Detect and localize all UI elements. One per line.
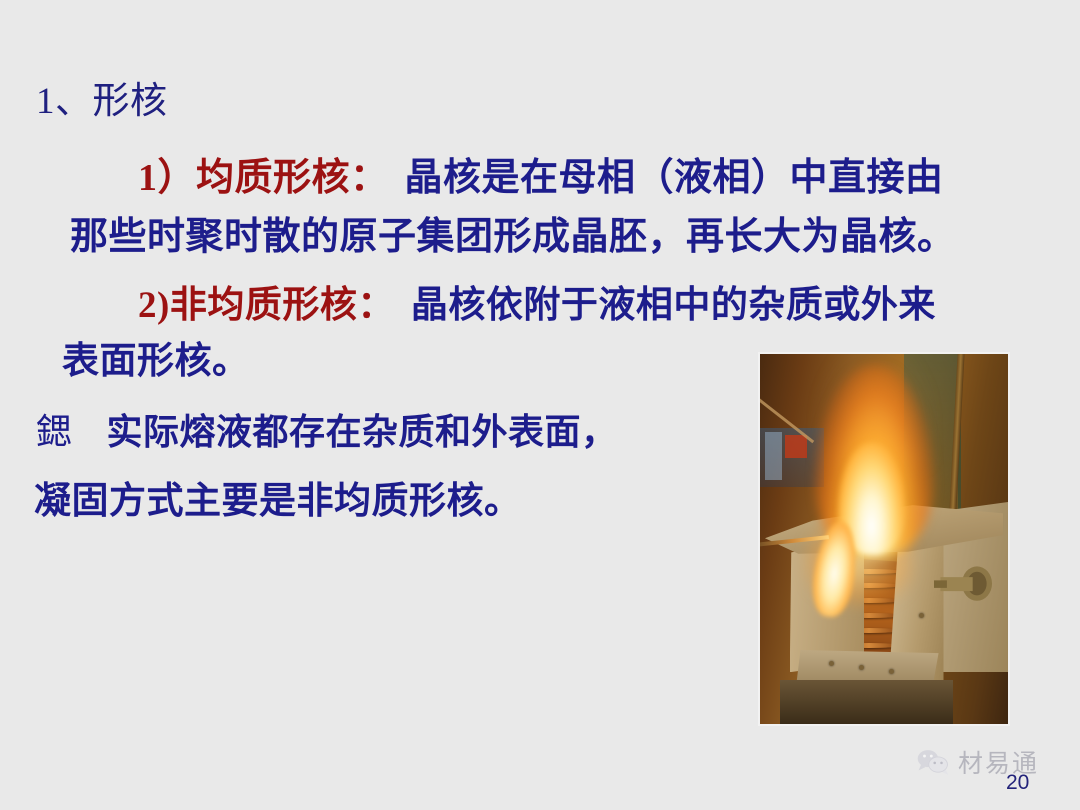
page-title: 1、形核 bbox=[36, 70, 168, 124]
item2-marker: 2)非均质形核： bbox=[138, 285, 395, 326]
bullet-marker-icon: 鍶 bbox=[36, 412, 73, 453]
note-line1: 鍶实际熔液都存在杂质和外表面， bbox=[36, 403, 618, 455]
photo-furnace-foot bbox=[780, 680, 954, 724]
wechat-icon bbox=[916, 748, 950, 776]
photo-left-rack-panel bbox=[765, 432, 782, 480]
note-line1-text: 实际熔液都存在杂质和外表面， bbox=[107, 412, 618, 452]
photo-pipe-flange-icon bbox=[934, 554, 998, 613]
note-line2: 凝固方式主要是非均质形核。 bbox=[34, 470, 522, 524]
item1-line1-text: 晶核是在母相（液相）中直接由 bbox=[405, 157, 944, 199]
item2-line1-text: 晶核依附于液相中的杂质或外来 bbox=[411, 285, 936, 326]
photo-red-equipment bbox=[785, 435, 807, 457]
item1-marker: 1）均质形核： bbox=[138, 157, 389, 199]
page-number: 20 bbox=[1006, 771, 1029, 795]
item1-line1: 1）均质形核：晶核是在母相（液相）中直接由 bbox=[138, 146, 944, 201]
furnace-photo bbox=[758, 352, 1010, 726]
item2-line2: 表面形核。 bbox=[62, 330, 250, 384]
slide-canvas: 1、形核 1）均质形核：晶核是在母相（液相）中直接由 那些时聚时散的原子集团形成… bbox=[0, 0, 1080, 810]
item1-line2: 那些时聚时散的原子集团形成晶胚，再长大为晶核。 bbox=[70, 205, 956, 260]
furnace-photo-content bbox=[760, 354, 1008, 724]
item2-line1: 2)非均质形核：晶核依附于液相中的杂质或外来 bbox=[138, 274, 936, 328]
